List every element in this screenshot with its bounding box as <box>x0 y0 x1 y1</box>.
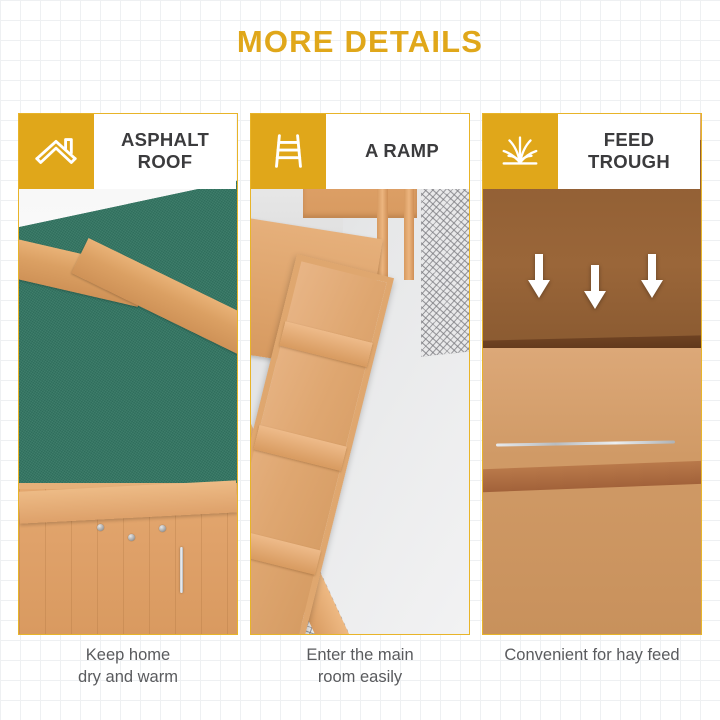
ramp-rung <box>251 633 295 634</box>
caption-asphalt-roof: Keep home dry and warm <box>18 645 238 689</box>
ramp-rung <box>251 530 321 576</box>
panel-header-ramp: A RAMP <box>250 113 470 189</box>
door-handle <box>180 547 183 593</box>
panel-heading: A RAMP <box>326 113 470 189</box>
panel-header-feed-trough: FEED TROUGH <box>482 113 700 189</box>
grass-icon <box>482 113 558 189</box>
hutch-body <box>19 483 237 634</box>
panel-header-asphalt-roof: ASPHALT ROOF <box>18 113 236 189</box>
panel-photo-feed-trough <box>483 114 701 634</box>
feature-panels: ASPHALT ROOF <box>18 113 702 635</box>
panel-captions: Keep home dry and warm Enter the main ro… <box>18 645 702 689</box>
feature-panel-ramp: A RAMP <box>250 113 470 635</box>
trough-front-panel <box>483 348 701 634</box>
promo-page: MORE DETAILS <box>0 0 720 720</box>
panel-heading: ASPHALT ROOF <box>94 113 236 189</box>
caption-ramp: Enter the main room easily <box>250 645 470 689</box>
screw-icon <box>97 524 104 531</box>
caption-feed-trough: Convenient for hay feed <box>482 645 702 689</box>
down-arrow-icon <box>527 254 551 300</box>
screw-icon <box>159 525 166 532</box>
metal-rod <box>496 441 675 447</box>
screw-icon <box>128 534 135 541</box>
hutch-top-rail <box>19 481 237 524</box>
panel-photo-ramp <box>251 114 469 634</box>
down-arrow-icon <box>583 265 607 311</box>
panel-heading: FEED TROUGH <box>558 113 700 189</box>
panel-photo-asphalt-roof <box>19 114 237 634</box>
down-arrow-icon <box>640 254 664 300</box>
feature-panel-feed-trough: FEED TROUGH <box>482 113 702 635</box>
page-title: MORE DETAILS <box>0 24 720 60</box>
feature-panel-asphalt-roof: ASPHALT ROOF <box>18 113 238 635</box>
page-title-wrap: MORE DETAILS <box>0 24 720 60</box>
roof-icon <box>18 113 94 189</box>
ramp-rung <box>279 322 372 368</box>
wood-band <box>483 461 701 493</box>
ramp-rung <box>253 426 346 472</box>
ladder-icon <box>250 113 326 189</box>
